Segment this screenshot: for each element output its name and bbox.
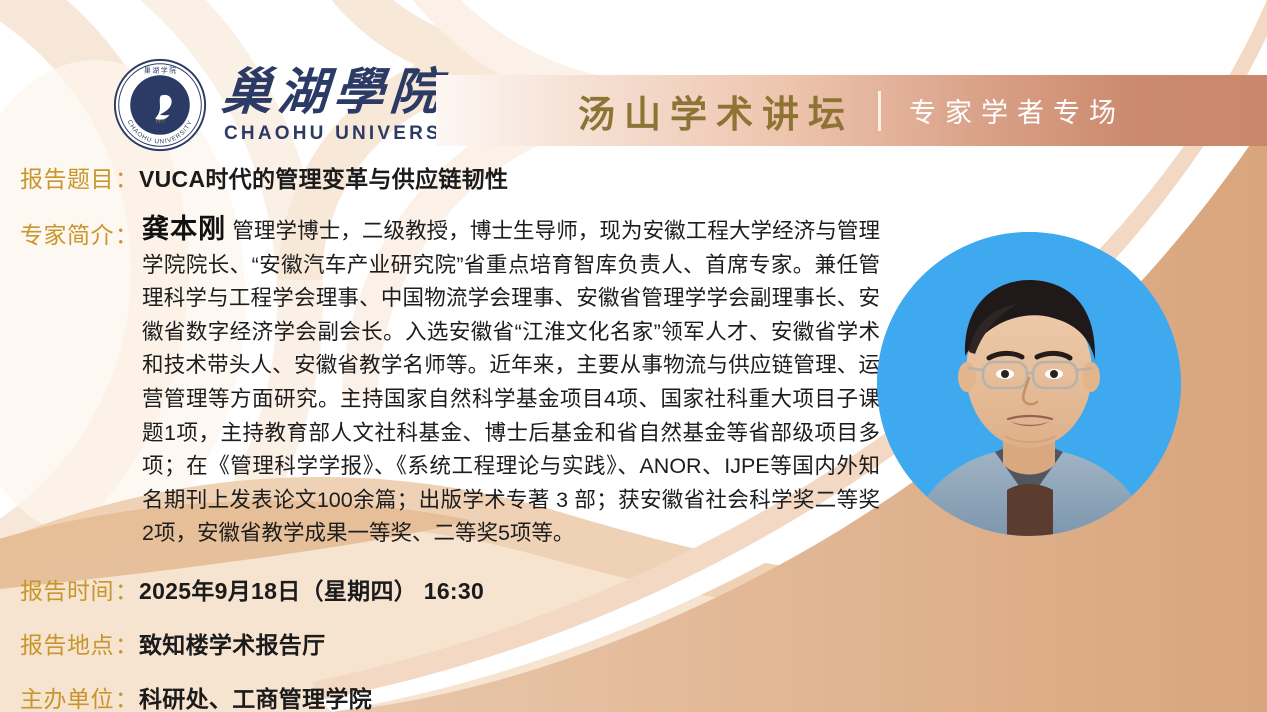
poster-body: 报告题目 ： VUCA时代的管理变革与供应链韧性 专家简介 ： 龚本刚 管理学博… bbox=[0, 0, 1267, 712]
speaker-bio-block: 龚本刚 管理学博士，二级教授，博士生导师，现为安徽工程大学经济与管理学院院长、“… bbox=[142, 213, 880, 551]
field-row-title: 报告题目 ： VUCA时代的管理变革与供应链韧性 bbox=[20, 160, 508, 194]
speaker-portrait bbox=[877, 232, 1181, 536]
speaker-bio-paragraph: 龚本刚 管理学博士，二级教授，博士生导师，现为安徽工程大学经济与管理学院院长、“… bbox=[142, 213, 880, 551]
label-place: 报告地点 bbox=[20, 626, 114, 660]
field-row-time: 报告时间 ： 2025年9月18日（星期四） 16:30 bbox=[20, 572, 484, 606]
value-title: VUCA时代的管理变革与供应链韧性 bbox=[139, 160, 508, 194]
field-row-place: 报告地点 ： 致知楼学术报告厅 bbox=[20, 626, 325, 660]
value-time: 2025年9月18日（星期四） 16:30 bbox=[139, 572, 484, 606]
value-host: 科研处、工商管理学院 bbox=[139, 680, 372, 712]
field-row-bio: 专家简介 ： bbox=[20, 216, 139, 250]
poster-root: 1977 巢 湖 学 院 CHAOHU UNIVERSITY 巢湖學院 CHAO… bbox=[0, 0, 1267, 712]
label-host: 主办单位 bbox=[20, 680, 114, 712]
colon-host: ： bbox=[115, 680, 138, 712]
speaker-bio-text: 管理学博士，二级教授，博士生导师，现为安徽工程大学经济与管理学院院长、“安徽汽车… bbox=[142, 219, 880, 545]
colon-place: ： bbox=[115, 626, 138, 660]
colon-bio: ： bbox=[115, 216, 138, 250]
label-bio: 专家简介 bbox=[20, 216, 114, 250]
value-place: 致知楼学术报告厅 bbox=[139, 626, 325, 660]
field-row-host: 主办单位 ： 科研处、工商管理学院 bbox=[20, 680, 372, 712]
label-time: 报告时间 bbox=[20, 572, 114, 606]
colon-title: ： bbox=[115, 160, 138, 194]
label-title: 报告题目 bbox=[20, 160, 114, 194]
colon-time: ： bbox=[115, 572, 138, 606]
speaker-name: 龚本刚 bbox=[142, 214, 226, 244]
